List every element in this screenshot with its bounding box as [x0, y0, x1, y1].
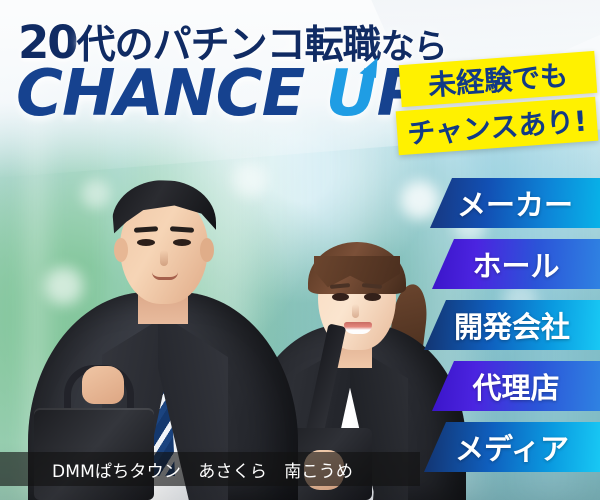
- man-ear-right: [200, 238, 214, 262]
- headline-chance-up: CHANCE UP: [16, 62, 422, 126]
- category-label-agency: 代理店: [472, 365, 559, 407]
- category-button-list: メーカー ホール 開発会社 代理店 メディア: [420, 178, 600, 483]
- man-hand: [82, 366, 124, 404]
- woman-eye-right: [364, 293, 381, 301]
- man-eye-left: [137, 239, 155, 246]
- chance-word: CHANCE: [16, 57, 304, 131]
- category-label-media: メディア: [455, 426, 569, 468]
- category-button-maker[interactable]: メーカー: [430, 178, 600, 228]
- credit-text: DMMぱちタウン あさくら 南こうめ: [0, 457, 353, 482]
- category-button-agency[interactable]: 代理店: [432, 361, 600, 411]
- category-button-hall[interactable]: ホール: [432, 239, 600, 289]
- category-label-maker: メーカー: [457, 182, 573, 224]
- category-label-hall: ホール: [472, 243, 559, 285]
- woman-eye-left: [332, 293, 349, 301]
- category-button-development-company[interactable]: 開発会社: [424, 300, 600, 350]
- man-nose: [160, 250, 168, 266]
- man-ear-left: [114, 238, 128, 262]
- person-man: [28, 155, 298, 500]
- advertisement-banner[interactable]: 20代のパチンコ転職なら CHANCE UP 未経験でも チャンスあり! メーカ…: [0, 0, 600, 500]
- category-label-development-company: 開発会社: [454, 304, 570, 346]
- up-letter-u: U: [326, 62, 377, 126]
- man-eye-right: [173, 239, 191, 246]
- man-smile: [152, 272, 178, 280]
- category-button-media[interactable]: メディア: [424, 422, 600, 472]
- woman-smile: [344, 322, 372, 334]
- woman-nose: [352, 304, 359, 318]
- credit-bar: DMMぱちタウン あさくら 南こうめ: [0, 452, 420, 486]
